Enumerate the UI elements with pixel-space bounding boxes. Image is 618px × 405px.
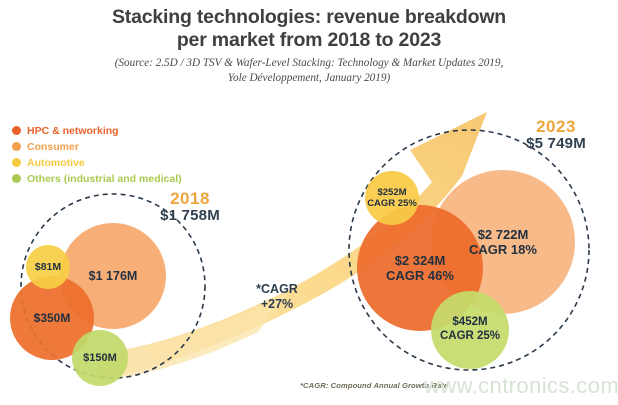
year-total-2023: 2023 $5 749M — [498, 118, 614, 152]
arrow-cagr-line-2: +27% — [222, 297, 332, 312]
year-label: 2018 — [132, 190, 248, 208]
legend-label: Consumer — [27, 141, 79, 153]
year-total-value: $1 758M — [132, 208, 248, 224]
year-total-2018: 2018 $1 758M — [132, 190, 248, 224]
bubble-label-2018-hpc-networking: $350M — [0, 311, 127, 325]
legend-item-hpc-networking: HPC & networking — [12, 123, 232, 138]
legend-label: Automotive — [27, 157, 85, 169]
legend-dot-icon — [12, 158, 21, 167]
legend-label: HPC & networking — [27, 125, 119, 137]
bubble-label-2023-others: $452MCAGR 25% — [395, 316, 545, 343]
year-label: 2023 — [498, 118, 614, 136]
arrow-cagr-line-1: *CAGR — [222, 282, 332, 297]
watermark: www.cntronics.com — [424, 373, 618, 399]
bubble-value: $2 722M — [428, 227, 578, 242]
year-total-value: $5 749M — [498, 136, 614, 152]
bubble-value: $81M — [0, 261, 123, 273]
bubble-label-2023-hpc-networking: $2 324MCAGR 46% — [345, 253, 495, 284]
bubble-cagr: CAGR 46% — [345, 268, 495, 283]
bubble-value: $150M — [25, 352, 175, 365]
bubble-cagr: CAGR 25% — [317, 198, 467, 209]
legend-dot-icon — [12, 174, 21, 183]
legend-dot-icon — [12, 142, 21, 151]
bubble-chart-canvas — [0, 0, 618, 405]
bubble-value: $2 324M — [345, 253, 495, 268]
bubble-value: $452M — [395, 316, 545, 330]
legend-item-consumer: Consumer — [12, 139, 232, 154]
bubble-value: $252M — [317, 187, 467, 198]
legend-item-automotive: Automotive — [12, 155, 232, 170]
legend-item-others: Others (industrial and medical) — [12, 171, 232, 186]
legend: HPC & networking Consumer Automotive Oth… — [12, 123, 232, 187]
legend-dot-icon — [12, 126, 21, 135]
legend-label: Others (industrial and medical) — [27, 173, 182, 185]
bubble-value: $350M — [0, 311, 127, 325]
bubble-label-2018-automotive: $81M — [0, 261, 123, 273]
infographic-root: Stacking technologies: revenue breakdown… — [0, 0, 618, 405]
arrow-cagr-label: *CAGR +27% — [222, 282, 332, 312]
bubble-label-2018-others: $150M — [25, 352, 175, 365]
bubble-cagr: CAGR 25% — [395, 330, 545, 344]
bubble-label-2023-automotive: $252MCAGR 25% — [317, 187, 467, 209]
